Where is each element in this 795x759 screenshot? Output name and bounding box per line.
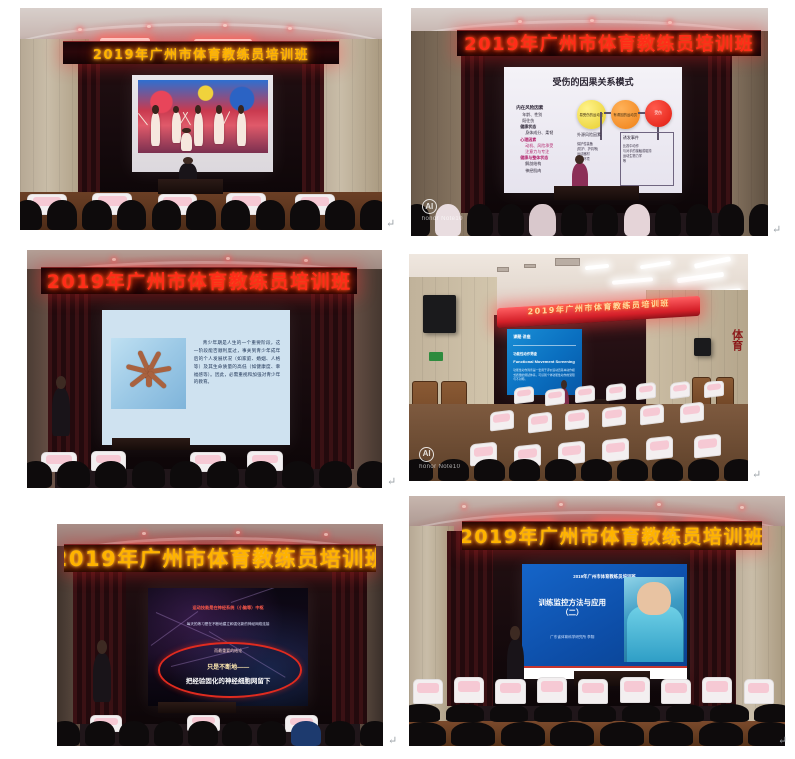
slide-line-1: 运动技能是在神经系统（小脑等）中枢 bbox=[148, 605, 308, 611]
podium bbox=[158, 702, 236, 713]
audience-head bbox=[474, 459, 505, 481]
paragraph-mark: ↵ bbox=[772, 225, 781, 236]
audience-seating bbox=[20, 181, 382, 230]
exit-sign-icon bbox=[429, 352, 443, 361]
slide-line-4: 只是不断地—— bbox=[148, 662, 308, 671]
seat-headrest-cover bbox=[706, 681, 728, 692]
seat-headrest-cover bbox=[547, 391, 562, 399]
watermark-brand-text: honor Note10 bbox=[419, 464, 460, 470]
seat-headrest-cover bbox=[665, 683, 687, 694]
audience-head bbox=[754, 704, 785, 722]
youth-hands-photo bbox=[111, 338, 186, 409]
seat-headrest-cover bbox=[748, 683, 770, 694]
audience-head bbox=[207, 461, 239, 488]
audience-head bbox=[152, 200, 181, 230]
led-banner-text: 2019年广州市体育教练员培训班 bbox=[462, 522, 763, 549]
projection-screen: 受伤的因果关系模式 内在风险因素 年龄、性别 既往伤 健康状态 身体成分、柔韧 … bbox=[504, 67, 683, 192]
audience-head bbox=[534, 704, 573, 722]
curtain-right bbox=[708, 35, 732, 213]
watermark-logo-icon: AI bbox=[422, 199, 437, 214]
led-banner-text: 2019年广州市体育教练员培训班 bbox=[93, 44, 309, 63]
speaker-presenter bbox=[52, 388, 70, 436]
slide-line-2: 每天的练习是在不断地建立和强化新的神经网络连接 bbox=[158, 622, 299, 627]
audience-row bbox=[27, 461, 382, 488]
seat bbox=[454, 677, 484, 702]
seat bbox=[704, 381, 724, 398]
seat-headrest-cover bbox=[474, 446, 494, 457]
paragraph-mark: ↵ bbox=[387, 477, 396, 488]
node-label: 有诱因的运动员 bbox=[613, 112, 637, 117]
seat-headrest-cover bbox=[568, 412, 585, 422]
projection-screen bbox=[132, 75, 273, 173]
audience-head bbox=[545, 459, 576, 481]
ceiling-light-tube bbox=[677, 272, 725, 284]
ceiling-downlight bbox=[223, 24, 227, 27]
seat bbox=[537, 677, 567, 702]
seat-headrest-cover bbox=[606, 409, 623, 419]
slide-athlete-photo bbox=[624, 577, 684, 662]
seat-headrest-cover bbox=[606, 442, 626, 453]
paragraph-mark: ↵ bbox=[752, 470, 761, 481]
audience-head bbox=[509, 459, 540, 481]
ceiling-downlight bbox=[226, 257, 230, 260]
seat bbox=[646, 436, 673, 461]
projection-screen: 2019年广州市体育教练员培训班 训练监控方法与应用 （二） 广东省体育科学研究… bbox=[522, 564, 687, 679]
slide-line-5: 把经验固化的神经细胞网留下 bbox=[148, 675, 308, 685]
audience-head bbox=[290, 200, 319, 230]
photo-5-lecture-hall-nerve-cell-slide[interactable]: 2019年广州市体育教练员培训班 运动技能是在神经系统（小脑等）中枢 每天的练习… bbox=[57, 524, 383, 746]
ceiling-downlight bbox=[740, 506, 744, 509]
slide-injury-causal-model: 受伤的因果关系模式 内在风险因素 年龄、性别 既往伤 健康状态 身体成分、柔韧 … bbox=[504, 67, 683, 192]
seat bbox=[413, 679, 443, 704]
audience-head bbox=[245, 461, 277, 488]
ceiling-downlight bbox=[78, 28, 82, 31]
curtain-right bbox=[332, 551, 367, 724]
wall-calligraphy: 体育 bbox=[729, 329, 745, 351]
audience-head bbox=[95, 461, 127, 488]
audience-head bbox=[655, 204, 681, 236]
slide-title: 受伤的因果关系模式 bbox=[504, 75, 683, 88]
ceiling-light-tube bbox=[612, 277, 653, 285]
seat-headrest-cover bbox=[578, 388, 593, 396]
performer bbox=[214, 112, 223, 144]
seat bbox=[694, 434, 721, 459]
seat bbox=[575, 385, 595, 403]
audience-head bbox=[47, 200, 76, 230]
curtain-left bbox=[461, 35, 485, 213]
audience-head bbox=[409, 704, 440, 722]
sub-box-title: 诱发事件 bbox=[623, 135, 671, 141]
seat-headrest-cover bbox=[531, 415, 548, 425]
audience-head bbox=[724, 459, 748, 481]
ceiling-downlight bbox=[288, 27, 292, 30]
photo-1-lecture-hall-front-kids-video[interactable]: 2019年广州市体育教练员培训班 bbox=[20, 8, 382, 230]
seat bbox=[636, 382, 656, 400]
slide-subheading: 功能性动作筛查 bbox=[513, 351, 537, 356]
audience-head bbox=[154, 721, 184, 746]
slide-heading: 课题·讲座 bbox=[513, 334, 530, 340]
audience-head bbox=[446, 704, 485, 722]
audience-head bbox=[592, 204, 618, 236]
seat-headrest-cover bbox=[698, 438, 718, 449]
seat-headrest-cover bbox=[500, 683, 522, 694]
seat-headrest-cover bbox=[494, 413, 511, 423]
audience-head bbox=[222, 721, 252, 746]
paragraph-mark: ↵ bbox=[386, 219, 395, 230]
ceiling-light-tube bbox=[694, 256, 732, 269]
audience-seating bbox=[411, 204, 768, 236]
audience-head bbox=[82, 200, 111, 230]
hall-scene: 2019年广州市体育教练员培训班 受伤的因果关系模式 内在风险因素 年龄、性别 … bbox=[411, 8, 768, 236]
hall-wide-scene: 2019年广州市体育教练员培训班 体育 课题·讲座 功能性动作筛查 Functi… bbox=[409, 254, 748, 481]
photo-2-lecture-hall-injury-causal-model[interactable]: 2019年广州市体育教练员培训班 受伤的因果关系模式 内在风险因素 年龄、性别 … bbox=[411, 8, 768, 236]
audience-head bbox=[529, 204, 555, 236]
seat-headrest-cover bbox=[517, 389, 532, 397]
flow-node-predisposed-athlete: 有诱因的运动员 bbox=[611, 100, 640, 130]
seat-headrest-cover bbox=[707, 383, 722, 391]
slide-presenter: 广东省体育科学研究所 李翔 bbox=[527, 635, 618, 640]
seat bbox=[606, 383, 626, 401]
slide-training-monitoring: 2019年广州市体育教练员培训班 训练监控方法与应用 （二） 广东省体育科学研究… bbox=[522, 564, 687, 679]
hall-scene: 2019年广州市体育教练员培训班 运动技能是在神经系统（小脑等）中枢 每天的练习… bbox=[57, 524, 383, 746]
audience-head bbox=[20, 200, 42, 230]
photo-4-lecture-hall-wide-side-view[interactable]: 2019年广州市体育教练员培训班 体育 课题·讲座 功能性动作筛查 Functi… bbox=[409, 254, 748, 481]
audience-head bbox=[501, 722, 545, 746]
seat bbox=[661, 679, 691, 704]
seat bbox=[744, 679, 774, 704]
audience-head bbox=[550, 722, 594, 746]
seat bbox=[680, 402, 704, 424]
hall-scene: 2019年广州市体育教练员培训班 青少年期是人生的一个重要阶段，这一阶段能否顺利… bbox=[27, 250, 382, 488]
seat-headrest-cover bbox=[541, 681, 563, 692]
ceiling-vent bbox=[524, 264, 536, 269]
seat-headrest-cover bbox=[673, 384, 688, 392]
watermark-logo-icon: AI bbox=[419, 447, 434, 462]
watermark-honor: AI honor Note10 bbox=[419, 447, 460, 470]
audience-head bbox=[451, 722, 495, 746]
flow-node-injury: 受伤 bbox=[645, 100, 672, 128]
seat-headrest-cover bbox=[684, 405, 701, 415]
audience-head bbox=[188, 721, 218, 746]
curtain-left bbox=[48, 274, 91, 469]
projection-screen: 运动技能是在神经系统（小脑等）中枢 每天的练习是在不断地建立和强化新的神经网络连… bbox=[148, 588, 308, 706]
seat-headrest-cover bbox=[582, 683, 604, 694]
audience-head bbox=[170, 461, 202, 488]
photo-3-lecture-hall-youth-development-slide[interactable]: 2019年广州市体育教练员培训班 青少年期是人生的一个重要阶段，这一阶段能否顺利… bbox=[27, 250, 382, 488]
audience-seating bbox=[57, 713, 383, 746]
slide-bullet-list: 内在风险因素 年龄、性别 既往伤 健康状态 身体成分、柔韧 心理因素 动机、风险… bbox=[516, 105, 573, 174]
audience-seating bbox=[409, 676, 785, 746]
audience-row bbox=[411, 204, 768, 236]
athlete-face bbox=[637, 582, 670, 614]
audience-head bbox=[581, 459, 612, 481]
audience-head bbox=[710, 704, 749, 722]
audience-head bbox=[282, 461, 314, 488]
audience-head bbox=[666, 704, 705, 722]
led-banner: 2019年广州市体育教练员培训班 bbox=[64, 544, 377, 572]
audience-head bbox=[652, 459, 683, 481]
led-banner-text: 2019年广州市体育教练员培训班 bbox=[64, 544, 377, 572]
curtain-right bbox=[302, 44, 324, 199]
seat bbox=[514, 386, 534, 404]
sub-box-item: 等 bbox=[623, 158, 671, 163]
audience-head bbox=[490, 704, 529, 722]
audience-head bbox=[622, 704, 661, 722]
ceiling-vent bbox=[555, 258, 581, 267]
audience-head bbox=[325, 200, 354, 230]
nerve-filament bbox=[231, 588, 292, 603]
seat-headrest-cover bbox=[458, 681, 480, 692]
ceiling-light-tube bbox=[585, 264, 609, 270]
sub-box-title: 外源风险因素 bbox=[577, 132, 614, 138]
slide-title: 训练监控方法与应用 （二） bbox=[527, 598, 618, 618]
audience-head bbox=[186, 200, 215, 230]
wall-speaker-right bbox=[694, 338, 711, 356]
ceiling-downlight bbox=[147, 25, 151, 28]
flow-link bbox=[638, 112, 645, 114]
audience-head bbox=[699, 722, 743, 746]
speaker-presenter bbox=[93, 653, 111, 702]
watermark-logo-text: AI bbox=[425, 203, 433, 211]
audience-head bbox=[357, 461, 382, 488]
seat bbox=[702, 677, 732, 702]
hall-scene: 2019年广州市体育教练员培训班 bbox=[20, 8, 382, 230]
ceiling-downlight bbox=[324, 533, 328, 536]
slide-subheading-en: Functional Movement Screening bbox=[513, 359, 575, 364]
ceiling-downlight bbox=[236, 531, 240, 534]
audience-head bbox=[578, 704, 617, 722]
node-label: 受伤 bbox=[654, 111, 662, 116]
seat bbox=[620, 677, 650, 702]
audience-row bbox=[409, 704, 785, 722]
slide-youth-development: 青少年期是人生的一个重要阶段，这一阶段能否顺利度过，事关到青少年成年后的个人发展… bbox=[102, 310, 290, 446]
led-banner: 2019年广州市体育教练员培训班 bbox=[63, 41, 338, 64]
watermark-brand-text: honor Note10 bbox=[422, 216, 463, 222]
seat-headrest-cover bbox=[643, 407, 660, 417]
seat bbox=[565, 409, 589, 431]
audience-head bbox=[617, 459, 648, 481]
audience-seating bbox=[27, 450, 382, 488]
flow-link bbox=[604, 112, 611, 114]
led-banner-text: 2019年广州市体育教练员培训班 bbox=[47, 267, 352, 294]
audience-head bbox=[749, 204, 768, 236]
seat bbox=[578, 679, 608, 704]
audience-head bbox=[291, 721, 321, 746]
bullet-item: 神经肌肉 bbox=[516, 168, 573, 174]
seat bbox=[495, 679, 525, 704]
slide-line-3: 而最重要的结论 bbox=[148, 648, 308, 654]
audience-head bbox=[132, 461, 164, 488]
audience-row bbox=[57, 721, 383, 746]
audience-head bbox=[85, 721, 115, 746]
slide-kids-performance bbox=[132, 75, 273, 173]
performer bbox=[151, 112, 160, 145]
ceiling-downlight bbox=[590, 19, 594, 22]
ceiling-downlight bbox=[112, 258, 116, 261]
curtain-left bbox=[78, 44, 100, 199]
audience-head bbox=[561, 204, 587, 236]
ceiling-downlight bbox=[304, 259, 308, 262]
seat bbox=[490, 410, 514, 432]
audience-head bbox=[27, 461, 52, 488]
audience-head bbox=[718, 204, 744, 236]
performer-arm bbox=[223, 111, 231, 124]
watermark-logo-text: AI bbox=[423, 450, 431, 458]
audience-head bbox=[686, 204, 712, 236]
seat bbox=[545, 388, 565, 406]
audience-head bbox=[57, 721, 80, 746]
audience-head bbox=[360, 721, 383, 746]
seat bbox=[670, 381, 690, 399]
performer bbox=[237, 112, 246, 145]
ceiling-downlight bbox=[657, 503, 661, 506]
hall-scene: 2019年广州市体育教练员培训班 2019年广州市体育教练员培训班 训练监控方法… bbox=[409, 496, 785, 746]
audience-head bbox=[688, 459, 719, 481]
seat-headrest-cover bbox=[639, 385, 654, 393]
led-banner: 2019年广州市体育教练员培训班 bbox=[41, 267, 357, 294]
led-banner: 2019年广州市体育教练员培训班 bbox=[457, 30, 760, 56]
audience-head bbox=[409, 722, 446, 746]
audience-head bbox=[57, 461, 89, 488]
slide-title-text: 训练监控方法与应用 bbox=[538, 598, 606, 607]
seat bbox=[528, 412, 552, 434]
seat-headrest-cover bbox=[417, 683, 439, 694]
audience-head bbox=[600, 722, 644, 746]
audience-head bbox=[221, 200, 250, 230]
ceiling-downlight bbox=[462, 505, 466, 508]
audience-head bbox=[256, 200, 285, 230]
paragraph-mark: ↵ bbox=[778, 736, 787, 747]
seat-headrest-cover bbox=[518, 448, 538, 459]
podium bbox=[112, 438, 190, 450]
audience-head bbox=[325, 721, 355, 746]
sub-box-right: 诱发事件 比赛中动作 与对手的接触或碰撞 运动生物力学 等 bbox=[620, 132, 674, 186]
audience-head bbox=[257, 721, 287, 746]
ceiling-downlight bbox=[559, 503, 563, 506]
seat bbox=[640, 404, 664, 426]
slide-body-text: 青少年期是人生的一个重要阶段，这一阶段能否顺利度过，事关到青少年成年后的个人发展… bbox=[194, 339, 281, 386]
ceiling-light-tube bbox=[639, 260, 670, 269]
kids-performance-photo bbox=[138, 80, 268, 152]
audience-row bbox=[20, 200, 382, 230]
photo-6-lecture-hall-training-monitoring-slide[interactable]: 2019年广州市体育教练员培训班 2019年广州市体育教练员培训班 训练监控方法… bbox=[409, 496, 785, 746]
performer-arm bbox=[138, 113, 148, 126]
audience-head bbox=[319, 461, 351, 488]
led-banner-text: 2019年广州市体育教练员培训班 bbox=[464, 30, 754, 56]
seat-headrest-cover bbox=[650, 440, 670, 451]
seat-headrest-cover bbox=[624, 681, 646, 692]
slide-title-part2: （二） bbox=[561, 608, 584, 617]
audience-head bbox=[467, 204, 493, 236]
audience-head bbox=[649, 722, 693, 746]
document-page: 2019年广州市体育教练员培训班 bbox=[0, 0, 795, 759]
audience-head bbox=[119, 721, 149, 746]
seat-headrest-cover bbox=[608, 386, 623, 394]
audience-head bbox=[360, 200, 382, 230]
seat bbox=[602, 406, 626, 428]
performer bbox=[194, 112, 203, 145]
audience-head bbox=[117, 200, 146, 230]
led-banner: 2019年广州市体育教练员培训班 bbox=[462, 521, 763, 550]
projection-screen: 青少年期是人生的一个重要阶段，这一阶段能否顺利度过，事关到青少年成年后的个人发展… bbox=[102, 310, 290, 446]
ceiling-downlight bbox=[142, 532, 146, 535]
podium bbox=[554, 186, 640, 200]
bullet-item: 内在风险因素 bbox=[516, 105, 573, 112]
performer bbox=[172, 112, 181, 142]
wall-speaker-left bbox=[423, 295, 457, 334]
curtain-right bbox=[311, 274, 354, 469]
performer bbox=[181, 133, 193, 152]
paragraph-mark: ↵ bbox=[388, 736, 397, 747]
seat-headrest-cover bbox=[562, 445, 582, 456]
audience-head bbox=[498, 204, 524, 236]
watermark-honor: AI honor Note10 bbox=[422, 199, 463, 222]
slide-rule bbox=[513, 345, 576, 346]
slide-body-text: 功能性动作筛查是一套用于评价运动员基本动作模式质量的测试体系，可识别个体功能性动… bbox=[513, 368, 576, 381]
ceiling-vent bbox=[497, 267, 509, 272]
audience-row bbox=[409, 722, 785, 746]
slide-nerve-network: 运动技能是在神经系统（小脑等）中枢 每天的练习是在不断地建立和强化新的神经网络连… bbox=[148, 588, 308, 706]
audience-head bbox=[624, 204, 650, 236]
